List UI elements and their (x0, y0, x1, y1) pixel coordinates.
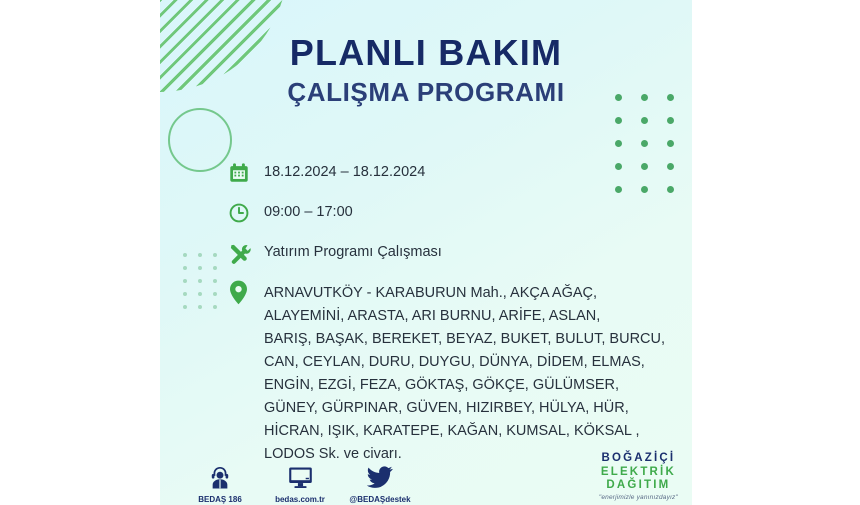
twitter-bird-icon (340, 462, 420, 492)
contact-channel-phone-label: BEDAŞ 186 (180, 495, 260, 505)
bedas-logo-line3: DAĞITIM (599, 480, 678, 492)
maintenance-time-range: 09:00 – 17:00 (264, 200, 353, 223)
call-center-agent-icon (180, 462, 260, 492)
bedas-logo-tagline: "enerjimizle yanınızdayız" (599, 495, 678, 502)
contact-channel-website-label: bedas.com.tr (260, 495, 340, 505)
planned-maintenance-poster: PLANLI BAKIM ÇALIŞMA PROGRAMI 18.12.2024… (160, 0, 692, 505)
info-row-date: 18.12.2024 – 18.12.2024 (228, 160, 678, 186)
info-list: 18.12.2024 – 18.12.2024 09:00 – 17:00 (228, 160, 678, 480)
poster-footer: BEDAŞ 186 bedas.com.tr (160, 457, 692, 505)
tools-icon (228, 240, 264, 266)
bedas-logo: BOĞAZİÇİ ELEKTRİK DAĞITIM "enerjimizle y… (599, 453, 678, 501)
affected-streets-list: ARNAVUTKÖY - KARABURUN Mah., AKÇA AĞAÇ, … (264, 280, 665, 466)
contact-channel-twitter-label: @BEDAŞdestek (340, 495, 420, 505)
contact-channels: BEDAŞ 186 bedas.com.tr (180, 462, 420, 505)
map-pin-icon (228, 280, 264, 304)
poster-header: PLANLI BAKIM ÇALIŞMA PROGRAMI (160, 34, 692, 108)
bedas-logo-line1: BOĞAZİÇİ (599, 453, 678, 465)
contact-channel-phone[interactable]: BEDAŞ 186 (180, 462, 260, 505)
contact-channel-website[interactable]: bedas.com.tr (260, 462, 340, 505)
info-row-location: ARNAVUTKÖY - KARABURUN Mah., AKÇA AĞAÇ, … (228, 280, 678, 466)
calendar-icon (228, 160, 264, 186)
page-subtitle: ÇALIŞMA PROGRAMI (160, 76, 692, 109)
maintenance-date-range: 18.12.2024 – 18.12.2024 (264, 160, 425, 183)
maintenance-work-type: Yatırım Programı Çalışması (264, 240, 442, 263)
info-row-worktype: Yatırım Programı Çalışması (228, 240, 678, 266)
circle-outline-decoration (168, 108, 232, 172)
bedas-logo-line2: ELEKTRİK (599, 467, 678, 479)
page-title: PLANLI BAKIM (160, 34, 692, 72)
dot-grid-left-decoration (183, 253, 228, 318)
contact-channel-twitter[interactable]: @BEDAŞdestek (340, 462, 420, 505)
clock-icon (228, 200, 264, 226)
monitor-icon (260, 462, 340, 492)
info-row-time: 09:00 – 17:00 (228, 200, 678, 226)
